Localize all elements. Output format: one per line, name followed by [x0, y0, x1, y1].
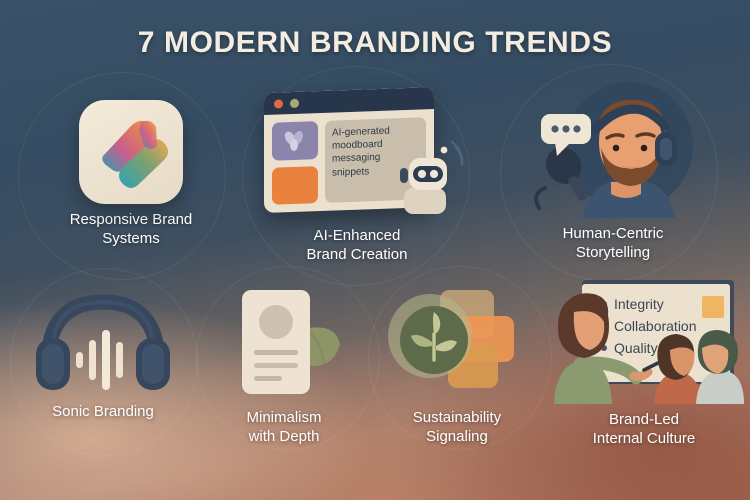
- infographic-poster: 7 MODERN BRANDING TRENDS: [0, 0, 750, 500]
- trend-card-brand-led-internal-culture[interactable]: Integrity Collaboration Quality: [546, 276, 742, 448]
- trend-label: Human-Centric Storytelling: [563, 224, 664, 262]
- trend-label: Sustainability Signaling: [413, 408, 501, 446]
- trend-card-sustainability-signaling[interactable]: Sustainability Signaling: [370, 284, 544, 446]
- page-title: 7 MODERN BRANDING TRENDS: [0, 26, 750, 60]
- whiteboard-presentation-icon: Integrity Collaboration Quality: [546, 276, 742, 404]
- trend-card-sonic-branding[interactable]: Sonic Branding: [28, 286, 178, 421]
- color-swatch-thumbnail-icon: [272, 166, 318, 205]
- plant-in-circle-icon: [382, 284, 532, 402]
- bullet-1-text: Integrity: [614, 296, 664, 312]
- browser-window-with-robot-icon: AI-generated moodboard messaging snippet…: [264, 90, 450, 220]
- trend-label: Brand-Led Internal Culture: [593, 410, 696, 448]
- robot-assistant-icon: [400, 138, 466, 218]
- trend-card-ai-enhanced-brand-creation[interactable]: AI-generated moodboard messaging snippet…: [262, 90, 452, 264]
- close-dot-icon[interactable]: [274, 99, 283, 108]
- trend-label: Sonic Branding: [52, 402, 154, 421]
- gradient-logo-mark-tile-icon: [79, 100, 183, 204]
- minimize-dot-icon[interactable]: [290, 98, 299, 107]
- trend-card-minimalism-with-depth[interactable]: Minimalism with Depth: [198, 284, 370, 446]
- trend-card-human-centric-storytelling[interactable]: Human-Centric Storytelling: [518, 86, 708, 262]
- trend-label: Responsive Brand Systems: [70, 210, 193, 248]
- bullet-3-text: Quality: [614, 340, 658, 356]
- podcaster-with-microphone-icon: [525, 86, 701, 218]
- trend-label: Minimalism with Depth: [247, 408, 322, 446]
- minimal-card-with-leaf-icon: [220, 284, 348, 402]
- trend-card-responsive-brand-systems[interactable]: Responsive Brand Systems: [36, 100, 226, 248]
- trend-label: AI-Enhanced Brand Creation: [307, 226, 408, 264]
- thumbnail-column: [272, 121, 318, 205]
- moodboard-thumbnail-icon: [272, 121, 318, 160]
- headphones-waveform-icon: [28, 286, 178, 396]
- bullet-2-text: Collaboration: [614, 318, 697, 334]
